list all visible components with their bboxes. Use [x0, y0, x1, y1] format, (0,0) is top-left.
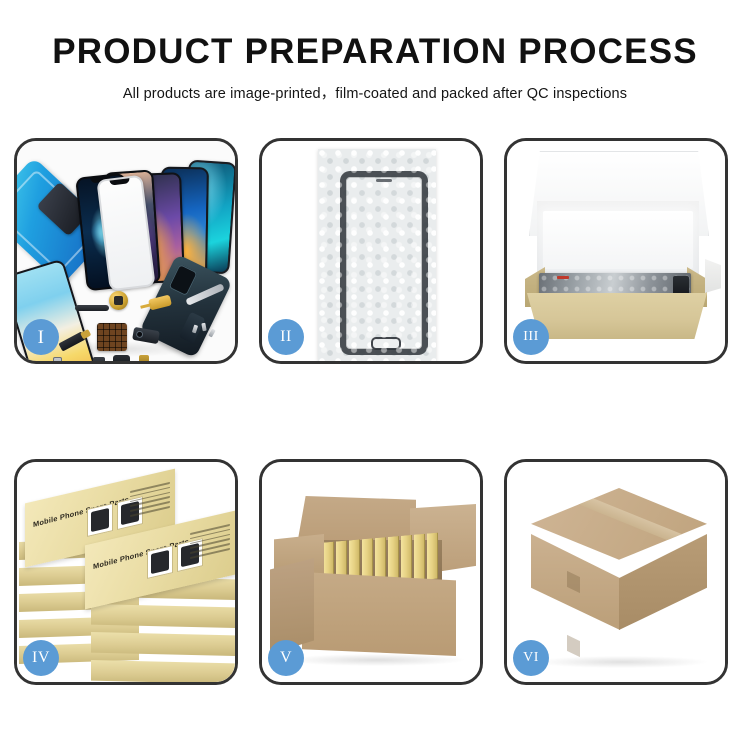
sim-tray-icon — [53, 357, 62, 361]
sealed-carton-shadow — [537, 656, 707, 668]
step-badge-2: II — [268, 319, 304, 355]
header: PRODUCT PREPARATION PROCESS All products… — [0, 0, 750, 103]
box-flap-right — [705, 259, 721, 293]
vibrator-motor-icon — [93, 357, 105, 361]
ic-chip-icon — [97, 323, 127, 351]
wrapped-screen-icon — [340, 171, 428, 355]
process-step-panel-2: II — [259, 138, 483, 364]
carton-body-front — [302, 572, 456, 656]
coil-component-icon — [109, 291, 128, 310]
page-subtitle: All products are image-printed，film-coat… — [0, 71, 750, 103]
screws-icon — [193, 323, 219, 341]
foam-insert-icon — [543, 211, 693, 269]
speaker-icon — [113, 355, 130, 361]
process-step-panel-6: VI — [504, 459, 728, 685]
flex-cable-icon — [75, 305, 109, 311]
process-step-panel-3: III — [504, 138, 728, 364]
box-spec-lines-1 — [130, 482, 170, 521]
page-title: PRODUCT PREPARATION PROCESS — [0, 0, 750, 71]
box-spec-lines-2 — [190, 524, 230, 563]
carton-seam-bottom — [567, 635, 580, 657]
process-step-panel-1: I — [14, 138, 238, 364]
step-badge-5: V — [268, 640, 304, 676]
process-step-panel-5: V — [259, 459, 483, 685]
box-window-1 — [87, 503, 113, 537]
step-badge-3: III — [513, 319, 549, 355]
box-front-panel — [527, 293, 707, 339]
box-window-3 — [147, 545, 173, 579]
process-step-panel-4: Mobile Phone Spare Parts Mobile Phone Sp… — [14, 459, 238, 685]
carton-body-side — [270, 558, 314, 654]
bubble-wrap-icon — [318, 149, 436, 361]
step-badge-1: I — [23, 319, 59, 355]
box-label-text-1: Mobile Phone Spare Parts — [33, 495, 129, 529]
carton-shadow — [288, 654, 464, 666]
step-badge-6: VI — [513, 640, 549, 676]
box-label-text-2: Mobile Phone Spare Parts — [93, 537, 189, 571]
product-preparation-infographic: PRODUCT PREPARATION PROCESS All products… — [0, 0, 750, 750]
step-badge-4: IV — [23, 640, 59, 676]
process-step-grid: I II III — [14, 138, 736, 694]
button-component-icon — [139, 355, 149, 361]
